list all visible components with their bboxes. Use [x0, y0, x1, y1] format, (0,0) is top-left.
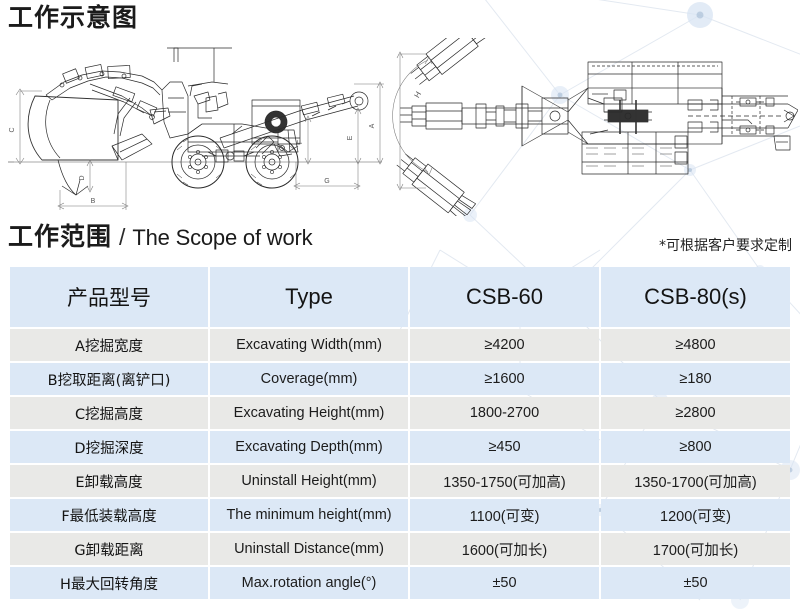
- svg-text:E: E: [347, 135, 354, 140]
- cell-csb60: 1350-1750(可加高): [410, 465, 599, 497]
- table-row: D挖掘深度Excavating Depth(mm)≥450≥800: [10, 431, 790, 463]
- table-header-row: 产品型号 Type CSB-60 CSB-80(s): [10, 267, 790, 327]
- cell-model: F最低装载高度: [10, 499, 208, 531]
- scope-section-title: 工作范围 / The Scope of work: [8, 220, 312, 255]
- cell-csb60: ±50: [410, 567, 599, 599]
- table-row: G卸载距离Uninstall Distance(mm)1600(可加长)1700…: [10, 533, 790, 565]
- cell-csb80s: ≥2800: [601, 397, 790, 429]
- table-header: 产品型号 Type CSB-60 CSB-80(s): [10, 267, 790, 327]
- cell-type: Max.rotation angle(°): [210, 567, 408, 599]
- svg-text:D: D: [79, 175, 86, 180]
- column-header-type: Type: [210, 267, 408, 327]
- cell-csb80s: 1700(可加长): [601, 533, 790, 565]
- svg-text:H: H: [412, 90, 423, 100]
- table-row: C挖掘高度Excavating Height(mm)1800-2700≥2800: [10, 397, 790, 429]
- svg-text:G: G: [324, 178, 329, 185]
- cell-type: Uninstall Distance(mm): [210, 533, 408, 565]
- cell-csb60: ≥4200: [410, 329, 599, 361]
- svg-text:B: B: [91, 198, 96, 205]
- page-root: 工作示意图: [0, 0, 800, 610]
- svg-text:A: A: [369, 123, 376, 128]
- cell-csb80s: ≥180: [601, 363, 790, 395]
- table-row: H最大回转角度Max.rotation angle(°)±50±50: [10, 567, 790, 599]
- table-row: E卸载高度Uninstall Height(mm)1350-1750(可加高)1…: [10, 465, 790, 497]
- cell-model: E卸载高度: [10, 465, 208, 497]
- diagram-section-title: 工作示意图: [8, 2, 138, 34]
- cell-csb60: 1600(可加长): [410, 533, 599, 565]
- cell-model: G卸载距离: [10, 533, 208, 565]
- svg-text:F: F: [297, 140, 304, 144]
- table-row: B挖取距离(离铲口)Coverage(mm)≥1600≥180: [10, 363, 790, 395]
- cell-csb60: 1100(可变): [410, 499, 599, 531]
- cell-type: Excavating Depth(mm): [210, 431, 408, 463]
- table-row: F最低装载高度The minimum height(mm)1100(可变)120…: [10, 499, 790, 531]
- scope-title-english: The Scope of work: [132, 221, 312, 255]
- cell-type: Excavating Height(mm): [210, 397, 408, 429]
- table-body: A挖掘宽度Excavating Width(mm)≥4200≥4800B挖取距离…: [10, 329, 790, 599]
- technical-drawings: C D B A E F G: [0, 38, 800, 216]
- column-header-model: 产品型号: [10, 267, 208, 327]
- scope-title-chinese: 工作范围: [8, 220, 112, 254]
- cell-model: C挖掘高度: [10, 397, 208, 429]
- table-row: A挖掘宽度Excavating Width(mm)≥4200≥4800: [10, 329, 790, 361]
- cell-csb80s: ≥800: [601, 431, 790, 463]
- cell-model: D挖掘深度: [10, 431, 208, 463]
- cell-type: Uninstall Height(mm): [210, 465, 408, 497]
- cell-csb60: ≥1600: [410, 363, 599, 395]
- svg-text:C: C: [9, 127, 16, 132]
- cell-type: Excavating Width(mm): [210, 329, 408, 361]
- cell-csb80s: ≥4800: [601, 329, 790, 361]
- column-header-csb60: CSB-60: [410, 267, 599, 327]
- cell-type: Coverage(mm): [210, 363, 408, 395]
- customization-note: *可根据客户要求定制: [659, 235, 792, 257]
- side-view-loader-drawing: C D B A E F G: [2, 38, 388, 216]
- scope-title-separator: /: [112, 220, 132, 254]
- cell-csb60: ≥450: [410, 431, 599, 463]
- specification-table: 产品型号 Type CSB-60 CSB-80(s) A挖掘宽度Excavati…: [8, 265, 792, 601]
- cell-model: A挖掘宽度: [10, 329, 208, 361]
- top-view-loader-drawing: H: [392, 38, 798, 216]
- cell-type: The minimum height(mm): [210, 499, 408, 531]
- cell-model: B挖取距离(离铲口): [10, 363, 208, 395]
- cell-csb80s: 1350-1700(可加高): [601, 465, 790, 497]
- cell-csb80s: 1200(可变): [601, 499, 790, 531]
- cell-csb60: 1800-2700: [410, 397, 599, 429]
- cell-csb80s: ±50: [601, 567, 790, 599]
- column-header-csb80s: CSB-80(s): [601, 267, 790, 327]
- cell-model: H最大回转角度: [10, 567, 208, 599]
